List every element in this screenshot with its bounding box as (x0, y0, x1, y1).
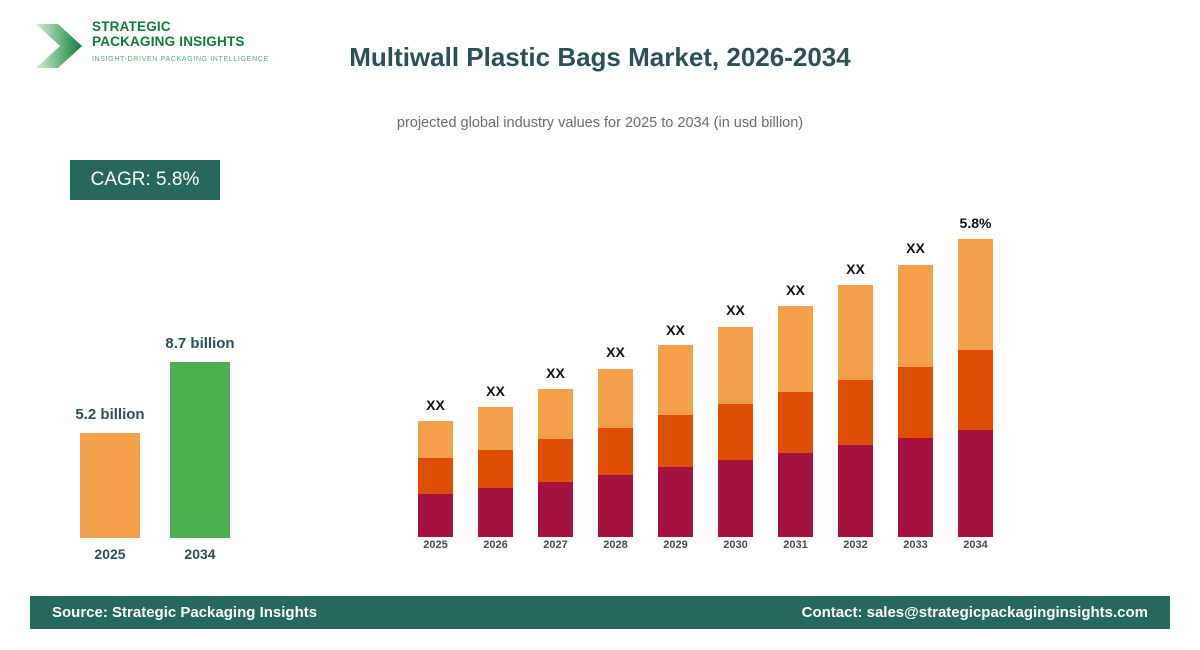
stacked-bar-2027[interactable] (538, 389, 573, 537)
stacked-segment-segment-1-2028[interactable] (598, 475, 633, 537)
stacked-top-label-2028: XX (581, 344, 651, 360)
stacked-segment-segment-2-2029[interactable] (658, 415, 693, 467)
stacked-segment-segment-1-2029[interactable] (658, 467, 693, 537)
stacked-segment-segment-3-2026[interactable] (478, 407, 513, 450)
stacked-segment-segment-1-2026[interactable] (478, 488, 513, 537)
stacked-segment-segment-2-2025[interactable] (418, 458, 453, 494)
stacked-bar-2029[interactable] (658, 346, 693, 537)
stacked-x-label-2034: 2034 (941, 539, 1011, 551)
stacked-segment-segment-3-2032[interactable] (838, 285, 873, 380)
stacked-segment-segment-1-2033[interactable] (898, 438, 933, 537)
stacked-segment-segment-3-2030[interactable] (718, 327, 753, 404)
stacked-segment-segment-1-2032[interactable] (838, 445, 873, 537)
stacked-top-label-2032: XX (821, 261, 891, 277)
stacked-segment-segment-1-2030[interactable] (718, 460, 753, 537)
stacked-segment-segment-1-2031[interactable] (778, 453, 813, 537)
stacked-bar-2026[interactable] (478, 407, 513, 537)
stacked-segment-segment-2-2034[interactable] (958, 350, 993, 430)
stacked-segment-segment-2-2028[interactable] (598, 428, 633, 475)
footer-source-text: Source: Strategic Packaging Insights (52, 596, 317, 629)
stacked-segment-segment-3-2031[interactable] (778, 306, 813, 392)
stacked-segment-segment-2-2026[interactable] (478, 450, 513, 488)
stacked-top-label-2031: XX (761, 282, 831, 298)
stacked-segment-segment-2-2032[interactable] (838, 380, 873, 445)
stacked-top-label-2026: XX (461, 383, 531, 399)
footer-contact-text: Contact: sales@strategicpackaginginsight… (802, 596, 1148, 629)
stacked-bar-2034[interactable] (958, 239, 993, 537)
stacked-segment-segment-1-2027[interactable] (538, 482, 573, 537)
stacked-bar-2028[interactable] (598, 368, 633, 537)
stacked-segment-segment-3-2033[interactable] (898, 265, 933, 367)
stacked-bar-2033[interactable] (898, 264, 933, 537)
stacked-segment-segment-1-2034[interactable] (958, 430, 993, 537)
stacked-segment-segment-3-2027[interactable] (538, 389, 573, 439)
stacked-segment-segment-2-2030[interactable] (718, 404, 753, 460)
footer-bar: Source: Strategic Packaging Insights Con… (30, 596, 1170, 629)
stacked-segment-segment-2-2031[interactable] (778, 392, 813, 453)
stacked-segment-segment-3-2028[interactable] (598, 369, 633, 428)
stacked-bar-2031[interactable] (778, 306, 813, 537)
stacked-bar-2030[interactable] (718, 326, 753, 537)
stacked-top-label-2030: XX (701, 302, 771, 318)
stacked-segment-segment-3-2034[interactable] (958, 239, 993, 350)
stacked-bar-2032[interactable] (838, 285, 873, 537)
stacked-segment-segment-2-2027[interactable] (538, 439, 573, 482)
stacked-segment-segment-3-2029[interactable] (658, 345, 693, 415)
stacked-top-label-2029: XX (641, 322, 711, 338)
stacked-bar-2025[interactable] (418, 421, 453, 537)
stacked-segment-segment-2-2033[interactable] (898, 367, 933, 438)
stacked-segment-segment-1-2025[interactable] (418, 494, 453, 537)
stacked-top-label-2033: XX (881, 240, 951, 256)
stacked-top-label-2034: 5.8% (941, 215, 1011, 231)
stacked-segment-segment-3-2025[interactable] (418, 421, 453, 458)
stacked-top-label-2027: XX (521, 365, 591, 381)
stacked-bar-chart: XX2025XX2026XX2027XX2028XX2029XX2030XX20… (0, 0, 1200, 600)
stacked-top-label-2025: XX (401, 397, 471, 413)
